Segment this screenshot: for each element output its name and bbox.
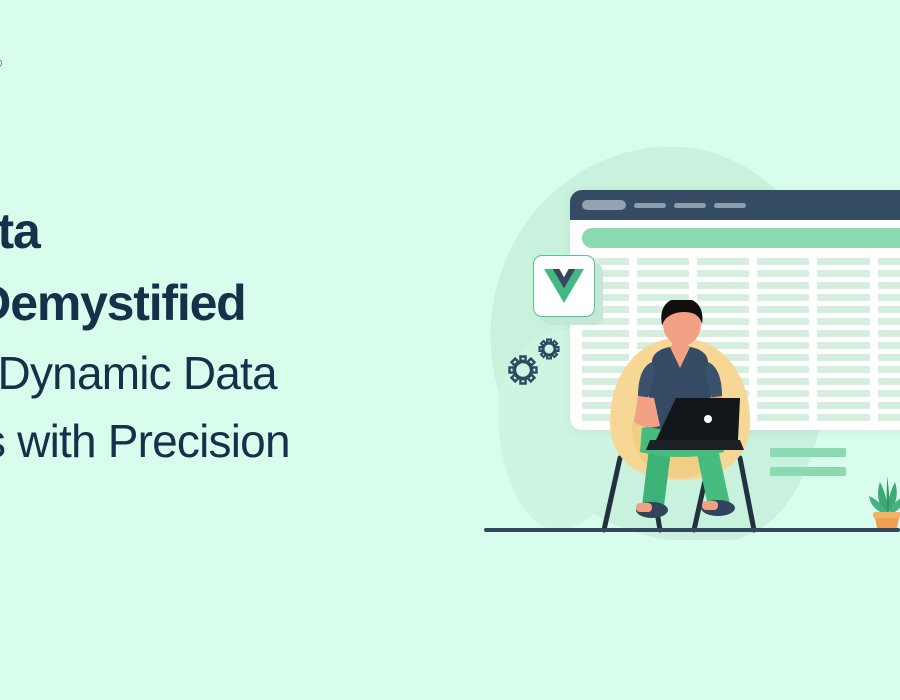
browser-tab-active[interactable] — [582, 200, 626, 210]
table-cell — [637, 258, 689, 265]
table-cell — [757, 258, 809, 265]
hero-illustration — [0, 0, 900, 540]
table-cell — [637, 282, 689, 289]
table-column — [878, 258, 900, 421]
table-column — [817, 258, 869, 421]
table-cell — [817, 282, 869, 289]
table-cell — [878, 282, 900, 289]
vue-logo-icon — [544, 269, 584, 303]
table-cell — [878, 294, 900, 301]
vue-badge — [533, 255, 595, 317]
table-cell — [878, 390, 900, 397]
browser-titlebar — [570, 190, 900, 220]
hero-band: rix ® e · Infinite Data s Demystified ng… — [0, 0, 900, 540]
table-cell — [817, 294, 869, 301]
table-header-row — [582, 228, 900, 248]
table-cell — [817, 390, 869, 397]
blog-banner: rix ® e · Infinite Data s Demystified ng… — [0, 0, 900, 700]
table-cell — [817, 258, 869, 265]
ankle-near — [702, 501, 718, 510]
table-cell — [817, 378, 869, 385]
content-placeholder-bars — [770, 448, 846, 486]
developer-with-laptop-illustration — [590, 300, 770, 540]
table-cell — [878, 342, 900, 349]
table-cell — [878, 414, 900, 421]
table-cell — [817, 342, 869, 349]
table-cell — [697, 282, 749, 289]
laptop-logo-icon — [704, 415, 712, 423]
browser-tab-2[interactable] — [634, 203, 666, 208]
table-cell — [878, 318, 900, 325]
table-cell — [878, 330, 900, 337]
table-cell — [757, 282, 809, 289]
table-cell — [878, 270, 900, 277]
table-cell — [878, 258, 900, 265]
lower-blank-band — [0, 540, 900, 700]
laptop-base — [646, 440, 744, 450]
settings-gears-icon — [498, 333, 568, 389]
pot-rim — [873, 512, 900, 518]
placeholder-bar — [770, 448, 846, 457]
plant-leaves — [869, 476, 900, 514]
browser-tab-3[interactable] — [674, 203, 706, 208]
table-cell — [757, 270, 809, 277]
table-cell — [817, 414, 869, 421]
table-cell — [878, 402, 900, 409]
browser-tab-4[interactable] — [714, 203, 746, 208]
table-cell — [637, 270, 689, 277]
table-cell — [697, 270, 749, 277]
ankle-far — [636, 503, 652, 512]
placeholder-bar — [770, 467, 846, 476]
ground-line — [484, 528, 900, 532]
table-cell — [817, 366, 869, 373]
table-cell — [817, 270, 869, 277]
table-cell — [878, 306, 900, 313]
table-cell — [697, 258, 749, 265]
table-cell — [878, 378, 900, 385]
table-cell — [817, 306, 869, 313]
table-cell — [817, 330, 869, 337]
potted-plant-icon — [866, 472, 900, 532]
table-cell — [817, 354, 869, 361]
table-cell — [817, 318, 869, 325]
table-cell — [878, 354, 900, 361]
table-cell — [878, 366, 900, 373]
table-cell — [817, 402, 869, 409]
